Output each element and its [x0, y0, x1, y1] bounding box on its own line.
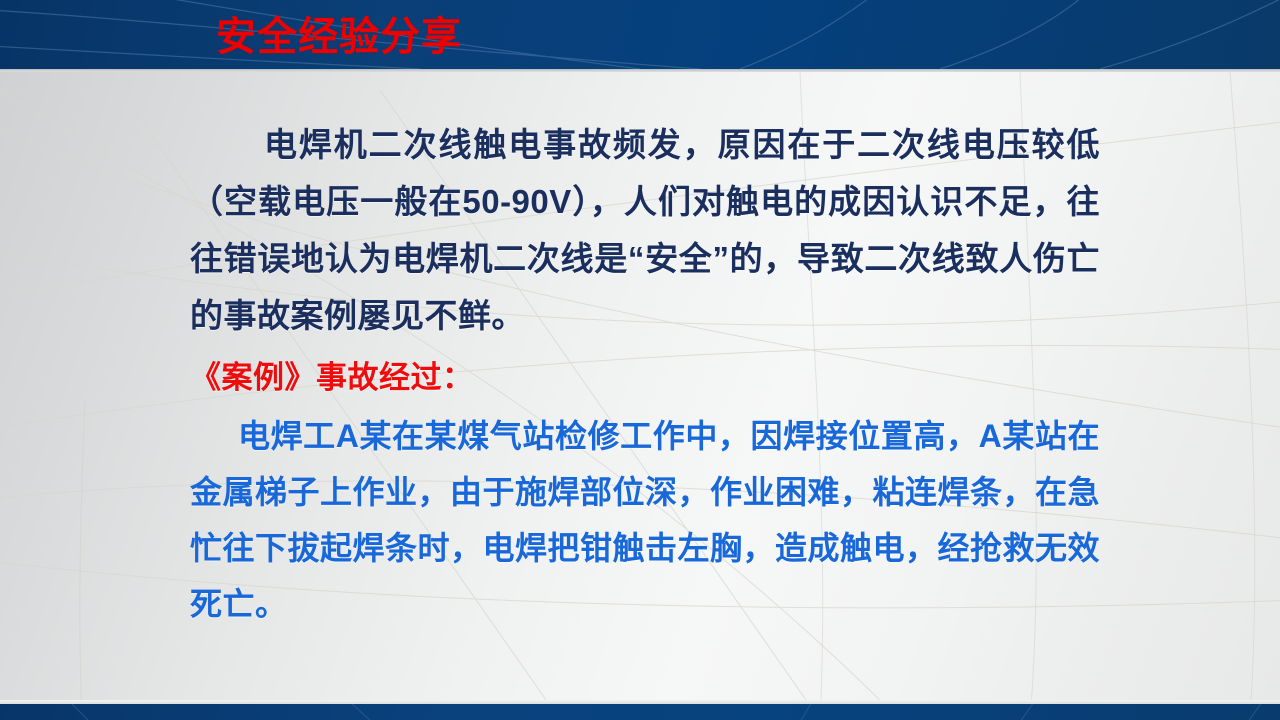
presentation-slide: 安全经验分享 电焊机二次线触电事故频发，原因在于二次线电压较低（空载电压一般在5… [0, 0, 1280, 720]
header-decorative-curves [0, 0, 1280, 69]
case-heading: 《案例》事故经过： [190, 355, 474, 401]
footer-decorative-lines [0, 704, 1280, 720]
page-title: 安全经验分享 [216, 12, 462, 62]
slide-footer-band [0, 704, 1280, 720]
slide-header-band: 安全经验分享 [0, 0, 1280, 69]
intro-paragraph: 电焊机二次线触电事故频发，原因在于二次线电压较低（空载电压一般在50-90V），… [190, 116, 1100, 344]
case-paragraph: 电焊工A某在某煤气站检修工作中，因焊接位置高，A某站在金属梯子上作业，由于施焊部… [190, 408, 1100, 632]
slide-body: 电焊机二次线触电事故频发，原因在于二次线电压较低（空载电压一般在50-90V），… [0, 72, 1280, 703]
